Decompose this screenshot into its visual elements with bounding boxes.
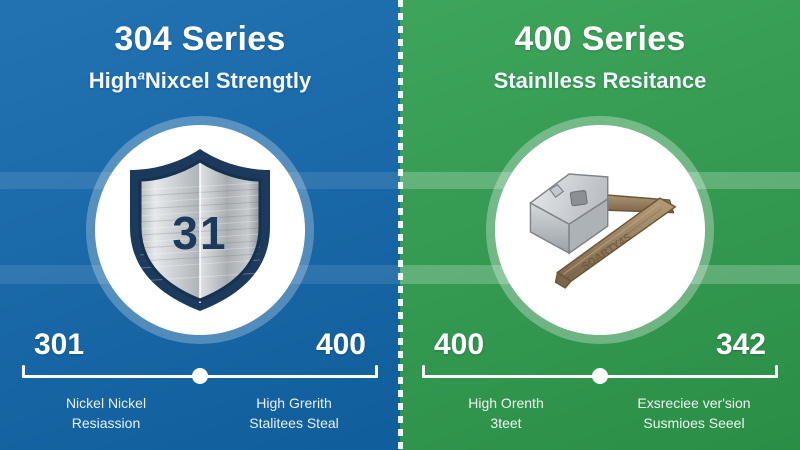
- left-stat-labels: Nickel Nickel Resiassion High Grerith St…: [22, 393, 378, 434]
- right-stat-left-label: High Orenth 3teet: [426, 393, 586, 434]
- left-stat-values: 301 400: [22, 330, 378, 360]
- right-panel-heading: 400 Series Stainlless Resitance: [400, 20, 800, 93]
- right-stat-axis: [422, 365, 778, 379]
- right-panel-title: 400 Series: [400, 20, 800, 59]
- right-stat-left-value: 400: [434, 330, 484, 360]
- left-stat-left-value: 301: [34, 330, 84, 360]
- left-stat-left-label-line1: Nickel Nickel: [26, 393, 186, 413]
- right-panel-subtitle: Stainlless Resitance: [400, 68, 800, 93]
- left-stat-right-label: High Grerith Stalitees Steal: [214, 393, 374, 434]
- right-stat-right-label-line2: Susmioes Seeel: [614, 413, 774, 433]
- left-subtitle-pre: High: [89, 68, 138, 93]
- panel-400-series: 400 Series Stainlless Resitance: [400, 0, 800, 450]
- left-panel-heading: 304 Series HighaNixcel Strengtly: [0, 20, 400, 93]
- right-stat-right-label-line1: Exsreciee ver'sion: [614, 393, 774, 413]
- left-stat-right-value: 400: [316, 330, 366, 360]
- left-badge-medallion: 31: [95, 125, 305, 335]
- right-axis-midpoint-dot: [592, 368, 608, 384]
- left-stat-axis: [22, 365, 378, 379]
- right-stat-right-label: Exsreciee ver'sion Susmioes Seeel: [614, 393, 774, 434]
- right-stat-values: 400 342: [422, 330, 778, 360]
- left-stat-right-label-line1: High Grerith: [214, 393, 374, 413]
- right-stat-right-value: 342: [716, 330, 766, 360]
- right-badge-inner: SOARTY4S: [515, 145, 685, 315]
- shield-value: 31: [120, 206, 280, 260]
- left-panel-subtitle: HighaNixcel Strengtly: [0, 68, 400, 93]
- left-stat-left-label: Nickel Nickel Resiassion: [26, 393, 186, 434]
- left-panel-title: 304 Series: [0, 20, 400, 59]
- hammer-icon: SOARTY4S: [515, 150, 685, 310]
- shield-icon: 31: [120, 145, 280, 315]
- left-stat-left-label-line2: Resiassion: [26, 413, 186, 433]
- right-stat-labels: High Orenth 3teet Exsreciee ver'sion Sus…: [422, 393, 778, 434]
- panel-304-series: 304 Series HighaNixcel Strengtly: [0, 0, 400, 450]
- right-badge-medallion: SOARTY4S: [495, 125, 705, 335]
- hammer-head: [530, 174, 607, 253]
- right-stats: 400 342 High Orenth 3teet Exsreciee ver'…: [422, 330, 778, 434]
- left-subtitle-post: Nixcel Strengtly: [145, 68, 311, 93]
- panel-divider: [398, 0, 403, 450]
- right-stat-left-label-line2: 3teet: [426, 413, 586, 433]
- left-badge-inner: 31: [115, 145, 285, 315]
- comparison-infographic: 304 Series HighaNixcel Strengtly: [0, 0, 800, 450]
- left-stat-right-label-line2: Stalitees Steal: [214, 413, 374, 433]
- right-stat-left-label-line1: High Orenth: [426, 393, 586, 413]
- left-subtitle-superscript: a: [138, 68, 145, 83]
- left-stats: 301 400 Nickel Nickel Resiassion High Gr…: [22, 330, 378, 434]
- left-axis-midpoint-dot: [192, 368, 208, 384]
